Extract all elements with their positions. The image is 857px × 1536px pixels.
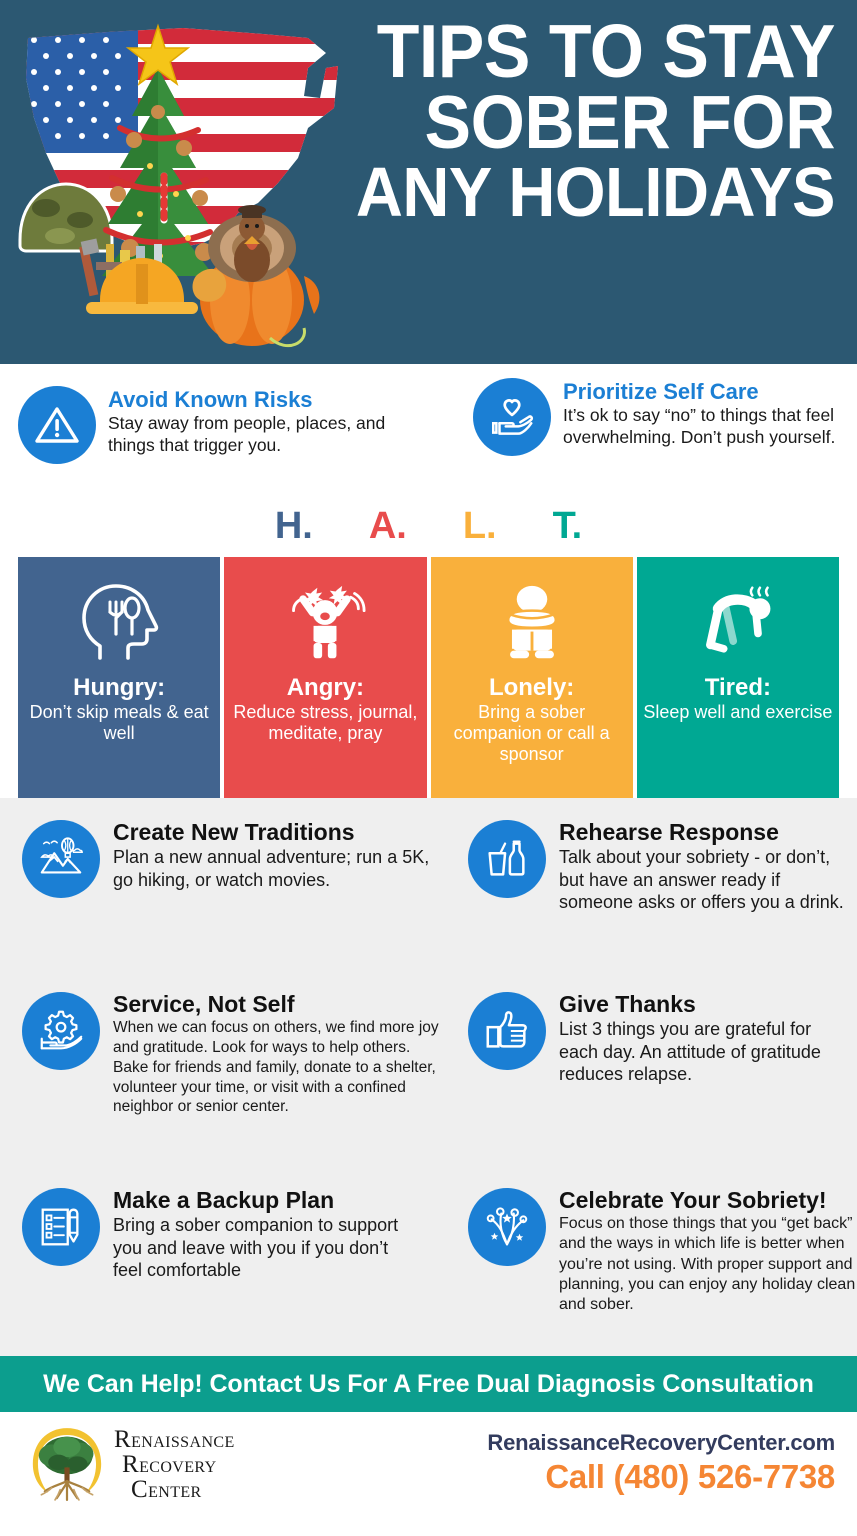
head-with-fork-and-spoon-icon	[76, 571, 162, 675]
tip-celebrate-your-sobriety: Celebrate Your Sobriety! Focus on those …	[468, 1188, 857, 1316]
halt-card-desc: Bring a sober companion or call a sponso…	[437, 702, 627, 765]
phone-number[interactable]: Call (480) 526-7738	[487, 1458, 835, 1496]
cta-banner-text: We Can Help! Contact Us For A Free Dual …	[43, 1370, 814, 1399]
tip-service-not-self: Service, Not Self When we can focus on o…	[22, 992, 447, 1117]
tip-text: Stay away from people, places, and thing…	[108, 413, 418, 456]
tip-text: List 3 things you are grateful for each …	[559, 1018, 848, 1086]
tip-title: Rehearse Response	[559, 820, 857, 844]
halt-card-angry: Angry: Reduce stress, journal, meditate,…	[224, 557, 426, 798]
page-title: TIPS TO STAY SOBER FOR ANY HOLIDAYS	[315, 16, 835, 225]
title-line-2: SOBER FOR	[351, 87, 835, 158]
tip-title: Make a Backup Plan	[113, 1188, 422, 1212]
halt-letter-l: L.	[463, 505, 497, 548]
tip-text: When we can focus on others, we find mor…	[113, 1018, 447, 1117]
halt-cards-row: Hungry: Don’t skip meals & eat well	[0, 557, 857, 798]
warning-triangle-icon	[18, 386, 96, 464]
halt-card-name: Tired:	[705, 675, 771, 701]
halt-letter-t: T.	[553, 505, 583, 548]
checklist-pen-icon	[22, 1188, 100, 1266]
logo-line-recovery: RECOVERY	[114, 1452, 235, 1477]
halt-letters-row: H. A. L. T.	[0, 509, 857, 557]
fireworks-icon	[468, 1188, 546, 1266]
heart-in-hand-icon	[473, 378, 551, 456]
halt-card-tired: Tired: Sleep well and exercise	[637, 557, 839, 798]
brand-logo-wordmark: RENAISSANCE RECOVERY CENTER	[114, 1427, 235, 1502]
tip-text: It’s ok to say “no” to things that feel …	[563, 405, 857, 448]
tip-title: Avoid Known Risks	[108, 388, 418, 412]
tired-bent-person-icon	[697, 571, 779, 675]
top-tips-section: Avoid Known Risks Stay away from people,…	[0, 364, 857, 509]
tip-give-thanks: Give Thanks List 3 things you are gratef…	[468, 992, 848, 1086]
tip-text: Talk about your sobriety - or don’t, but…	[559, 846, 857, 914]
halt-card-name: Angry:	[287, 675, 364, 701]
gear-in-hand-icon	[22, 992, 100, 1070]
contact-block: RenaissanceRecoveryCenter.com Call (480)…	[487, 1430, 835, 1496]
halt-card-hungry: Hungry: Don’t skip meals & eat well	[18, 557, 220, 798]
tip-title: Celebrate Your Sobriety!	[559, 1188, 857, 1212]
tip-prioritize-self-care: Prioritize Self Care It’s ok to say “no”…	[473, 378, 857, 456]
halt-card-name: Lonely:	[489, 675, 574, 701]
tip-title: Service, Not Self	[113, 992, 447, 1016]
thumbs-up-icon	[468, 992, 546, 1070]
tip-text: Plan a new annual adventure; run a 5K, g…	[113, 846, 437, 891]
tip-title: Create New Traditions	[113, 820, 437, 844]
halt-card-desc: Reduce stress, journal, meditate, pray	[230, 702, 420, 744]
tip-text: Bring a sober companion to support you a…	[113, 1214, 422, 1282]
halt-letter-a: A.	[369, 505, 407, 548]
cta-banner: We Can Help! Contact Us For A Free Dual …	[0, 1356, 857, 1412]
halt-card-desc: Sleep well and exercise	[643, 702, 832, 723]
brand-logo[interactable]: RENAISSANCE RECOVERY CENTER	[26, 1424, 235, 1504]
tip-create-new-traditions: Create New Traditions Plan a new annual …	[22, 820, 437, 898]
angry-person-icon	[284, 571, 366, 675]
mountain-balloon-icon	[22, 820, 100, 898]
tip-rehearse-response: Rehearse Response Talk about your sobrie…	[468, 820, 857, 914]
logo-line-renaissance: RENAISSANCE	[114, 1427, 235, 1452]
header-banner: TIPS TO STAY SOBER FOR ANY HOLIDAYS	[0, 0, 857, 364]
lonely-curled-person-icon	[491, 571, 573, 675]
tip-make-a-backup-plan: Make a Backup Plan Bring a sober compani…	[22, 1188, 422, 1282]
halt-letter-h: H.	[275, 505, 313, 548]
logo-line-center: CENTER	[114, 1477, 235, 1502]
tip-title: Prioritize Self Care	[563, 380, 857, 404]
footer: RENAISSANCE RECOVERY CENTER RenaissanceR…	[0, 1412, 857, 1524]
halt-card-name: Hungry:	[73, 675, 165, 701]
halt-card-desc: Don’t skip meals & eat well	[24, 702, 214, 744]
tip-text: Focus on those things that you “get back…	[559, 1214, 857, 1316]
tree-with-roots-logo	[26, 1424, 108, 1504]
title-line-3: ANY HOLIDAYS	[351, 159, 835, 226]
halt-card-lonely: Lonely: Bring a sober companion or call …	[431, 557, 633, 798]
main-tips-section: Create New Traditions Plan a new annual …	[0, 798, 857, 1356]
holiday-collage-artwork	[8, 8, 368, 358]
website-link[interactable]: RenaissanceRecoveryCenter.com	[487, 1430, 835, 1456]
drink-glass-bottle-icon	[468, 820, 546, 898]
tip-avoid-known-risks: Avoid Known Risks Stay away from people,…	[18, 386, 418, 464]
tip-title: Give Thanks	[559, 992, 848, 1016]
title-line-1: TIPS TO STAY	[351, 16, 835, 87]
